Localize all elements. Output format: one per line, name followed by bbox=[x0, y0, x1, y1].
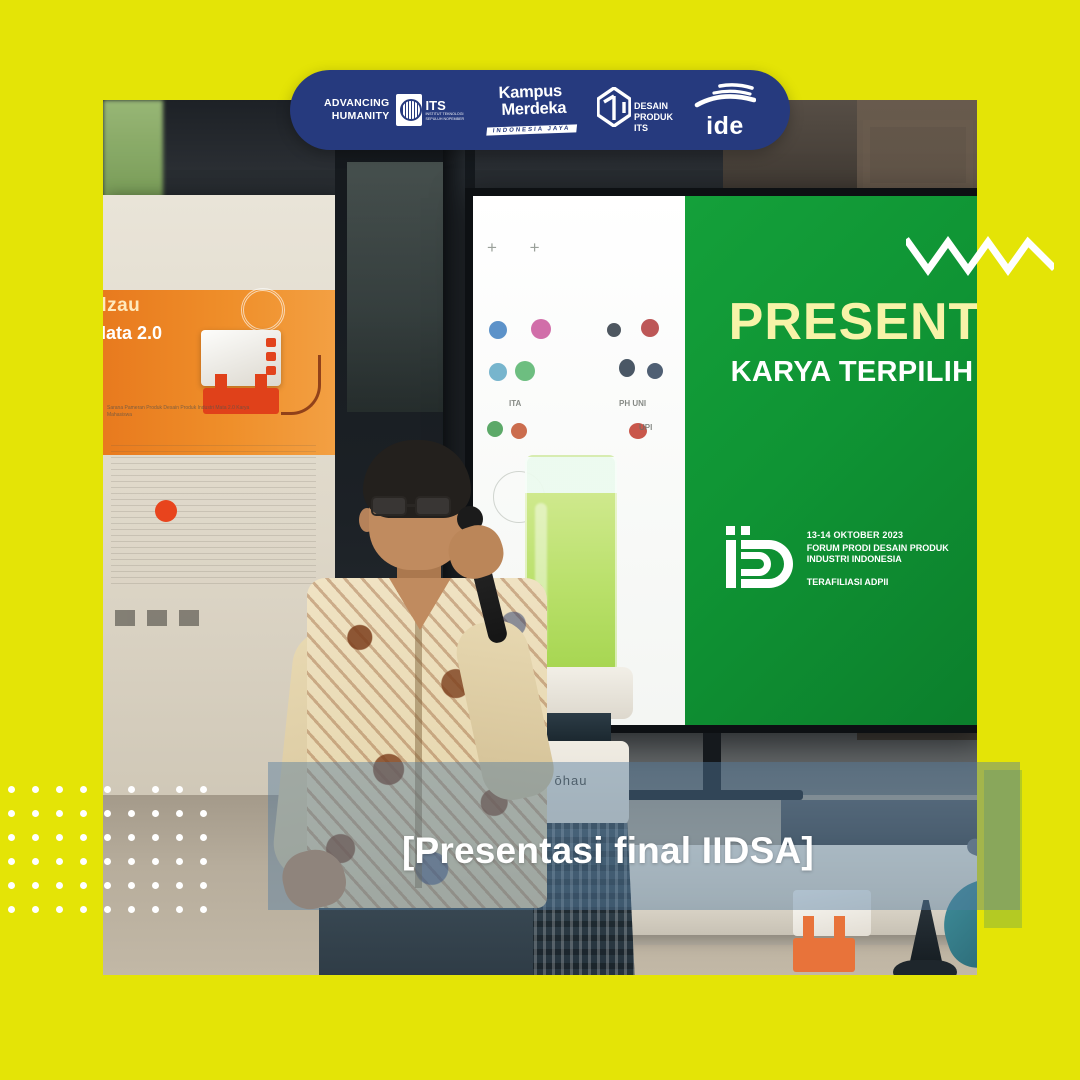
its-tagline-line2: HUMANITY bbox=[324, 110, 390, 123]
iidsa-logo-icon bbox=[723, 526, 793, 588]
grid-dot bbox=[32, 882, 39, 889]
logo-its: ADVANCING HUMANITY ITS INSTITUT TEKNOLOG… bbox=[324, 94, 466, 126]
its-seal-icon bbox=[396, 94, 422, 126]
dp-line3: ITS bbox=[634, 123, 673, 134]
poster-sponsor-1 bbox=[115, 610, 135, 626]
logo-ide: ide bbox=[694, 83, 756, 138]
wall-logo-7 bbox=[619, 359, 635, 377]
its-tagline: ADVANCING HUMANITY bbox=[324, 97, 390, 123]
desain-produk-wordmark: DESAIN PRODUK ITS bbox=[634, 101, 673, 134]
grid-dot bbox=[32, 858, 39, 865]
grid-dot bbox=[80, 810, 87, 817]
kampus-merdeka-wordmark: Kampus Merdeka INDONESIA JAYA bbox=[486, 82, 577, 137]
its-tagline-line1: ADVANCING bbox=[324, 97, 390, 110]
its-abbr: ITS bbox=[426, 99, 466, 112]
grid-dot bbox=[8, 858, 15, 865]
partner-logo-bar: ADVANCING HUMANITY ITS INSTITUT TEKNOLOG… bbox=[290, 70, 790, 150]
its-full-name: INSTITUT TEKNOLOGI SEPULUH NOPEMBER bbox=[426, 112, 466, 121]
dp-line1: DESAIN bbox=[634, 101, 673, 112]
poster-stamp-icon bbox=[241, 288, 285, 332]
badge-d-inner bbox=[741, 552, 771, 576]
slide-event-badge: 13-14 OKTOBER 2023 FORUM PRODI DESAIN PR… bbox=[723, 526, 977, 588]
badge-date: 13-14 OKTOBER 2023 bbox=[807, 530, 977, 540]
grid-dot bbox=[32, 834, 39, 841]
glasses-lens-left bbox=[371, 496, 407, 516]
poster-title: dzau bbox=[103, 295, 140, 317]
logo-desain-produk-its: DESAIN PRODUK ITS bbox=[597, 87, 673, 134]
kampus-merdeka-ribbon: INDONESIA JAYA bbox=[487, 124, 577, 135]
wall-logo-3 bbox=[607, 323, 621, 337]
prop-orange-stand bbox=[793, 938, 855, 972]
grid-dot bbox=[80, 906, 87, 913]
grid-dot bbox=[8, 834, 15, 841]
badge-affiliation: TERAFILIASI ADPII bbox=[807, 577, 977, 587]
glasses-icon bbox=[371, 496, 463, 516]
its-wordmark: ITS INSTITUT TEKNOLOGI SEPULUH NOPEMBER bbox=[426, 99, 466, 121]
wall-logo-4 bbox=[641, 319, 659, 337]
badge-forum: FORUM PRODI DESAIN PRODUK INDUSTRI INDON… bbox=[807, 543, 977, 565]
slide-title: PRESENT bbox=[729, 292, 977, 352]
ide-wordmark: ide bbox=[694, 114, 756, 138]
grid-dot bbox=[56, 810, 63, 817]
poster-subtitle: Mata 2.0 bbox=[103, 323, 162, 344]
poster-sponsor-3 bbox=[179, 610, 199, 626]
kampus-merdeka-line2: Merdeka bbox=[492, 99, 576, 119]
wall-logo-8 bbox=[647, 363, 663, 379]
dp-line2: PRODUK bbox=[634, 112, 673, 123]
caption-text: [Presentasi final IIDSA] bbox=[402, 830, 814, 872]
wall-logo-label-3: UPI bbox=[639, 423, 652, 432]
poster-red-dot bbox=[155, 500, 177, 522]
grid-dot bbox=[56, 906, 63, 913]
poster-sponsor-2 bbox=[147, 610, 167, 626]
prop-black-base bbox=[893, 960, 957, 975]
glasses-lens-right bbox=[415, 496, 451, 516]
desain-produk-mark-icon bbox=[597, 87, 631, 127]
grid-dot bbox=[32, 786, 39, 793]
slide-subtitle: KARYA TERPILIH bbox=[731, 356, 974, 389]
badge-square-2 bbox=[741, 526, 750, 535]
grid-dot bbox=[56, 858, 63, 865]
badge-bar bbox=[726, 540, 736, 588]
grid-dot bbox=[56, 786, 63, 793]
slide-plus-marks: + + bbox=[487, 238, 554, 258]
glasses-bridge bbox=[407, 504, 417, 507]
wall-logo-label-2: PH UNI bbox=[619, 399, 646, 408]
grid-dot bbox=[8, 810, 15, 817]
grid-dot bbox=[8, 882, 15, 889]
poster-canvas: dzau Mata 2.0 Sarana Pameran Produk Desa… bbox=[0, 0, 1080, 1080]
grid-dot bbox=[32, 810, 39, 817]
badge-text-block: 13-14 OKTOBER 2023 FORUM PRODI DESAIN PR… bbox=[807, 526, 977, 587]
grid-dot bbox=[80, 834, 87, 841]
grid-dot bbox=[56, 882, 63, 889]
grid-dot bbox=[32, 906, 39, 913]
grid-dot bbox=[80, 786, 87, 793]
logo-kampus-merdeka: Kampus Merdeka INDONESIA JAYA bbox=[486, 84, 576, 136]
grid-dot bbox=[8, 786, 15, 793]
ide-swoosh-icon bbox=[694, 83, 756, 109]
badge-square-1 bbox=[726, 526, 735, 535]
zigzag-decoration-icon bbox=[906, 236, 1054, 280]
grid-dot bbox=[8, 906, 15, 913]
grid-dot bbox=[80, 858, 87, 865]
grid-dot bbox=[56, 834, 63, 841]
grid-dot bbox=[80, 882, 87, 889]
